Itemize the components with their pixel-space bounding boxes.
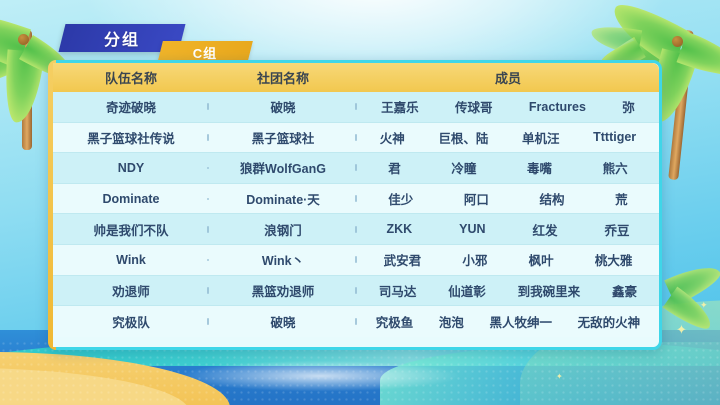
- member-name: 熊六: [603, 158, 628, 177]
- member-name: 司马达: [379, 281, 417, 300]
- table-row[interactable]: 奇迹破晓破晓王嘉乐传球哥Fractures弥: [53, 92, 659, 123]
- member-name: Fractures: [529, 100, 586, 114]
- member-name: 单机汪: [522, 128, 560, 147]
- member-name: 红发: [532, 220, 557, 239]
- cell-members: 武安君小邪枫叶桃大雅: [357, 250, 659, 269]
- member-name: 枫叶: [529, 250, 554, 269]
- cell-members: 王嘉乐传球哥Fractures弥: [357, 97, 659, 116]
- cell-members: 佳少阿口结构荒: [357, 189, 659, 208]
- cell-team-name: Wink: [53, 253, 209, 267]
- member-name: 君: [388, 158, 401, 177]
- column-header-team: 队伍名称: [53, 68, 209, 87]
- table-row[interactable]: 帅是我们不队浪钢门ZKKYUN红发乔豆: [53, 214, 659, 245]
- cell-members: 火神巨根、陆单机汪Ttttiger: [357, 128, 659, 147]
- cell-team-name: Dominate: [53, 192, 209, 206]
- cell-club-name: 黑篮劝退师: [209, 281, 357, 300]
- table-body: 奇迹破晓破晓王嘉乐传球哥Fractures弥黑子篮球社传说黑子篮球社火神巨根、陆…: [53, 92, 659, 337]
- cell-club-name: 破晓: [209, 97, 357, 116]
- member-name: 小邪: [462, 250, 487, 269]
- member-name: 阿口: [464, 189, 489, 208]
- cell-team-name: NDY: [53, 161, 209, 175]
- cell-club-name: 破晓: [209, 312, 357, 331]
- member-name: 到我碗里来: [518, 281, 581, 300]
- cell-team-name: 黑子篮球社传说: [53, 128, 209, 147]
- table-row[interactable]: DominateDominate·天佳少阿口结构荒: [53, 184, 659, 215]
- cell-members: 君冷瞳毒嘴熊六: [357, 158, 659, 177]
- table-row[interactable]: 究极队破晓究极鱼泡泡黑人牧绅一无敌的火神: [53, 306, 659, 337]
- member-name: Ttttiger: [593, 130, 636, 144]
- member-name: 武安君: [384, 250, 422, 269]
- member-name: 巨根、陆: [438, 128, 488, 147]
- cell-club-name: 黑子篮球社: [209, 128, 357, 147]
- member-name: 桃大雅: [595, 250, 633, 269]
- member-name: 究极鱼: [376, 312, 414, 331]
- member-name: 仙道彰: [448, 281, 486, 300]
- cell-members: 司马达仙道彰到我碗里来鑫豪: [357, 281, 659, 300]
- coconut: [18, 34, 29, 45]
- member-name: 火神: [380, 128, 405, 147]
- member-name: 冷瞳: [451, 158, 476, 177]
- cell-team-name: 帅是我们不队: [53, 220, 209, 239]
- cell-team-name: 究极队: [53, 312, 209, 331]
- member-name: YUN: [459, 222, 485, 236]
- member-name: 毒嘴: [527, 158, 552, 177]
- table-row[interactable]: WinkWink丶武安君小邪枫叶桃大雅: [53, 245, 659, 276]
- cell-members: ZKKYUN红发乔豆: [357, 220, 659, 239]
- cell-members: 究极鱼泡泡黑人牧绅一无敌的火神: [357, 312, 659, 331]
- member-name: 弥: [622, 97, 635, 116]
- cell-team-name: 劝退师: [53, 281, 209, 300]
- member-name: 鑫豪: [612, 281, 637, 300]
- cell-club-name: 狼群WolfGanG: [209, 158, 357, 177]
- column-header-member: 成员: [357, 68, 659, 87]
- sparkle-icon: ✦: [700, 300, 708, 311]
- table-row[interactable]: NDY狼群WolfGanG君冷瞳毒嘴熊六: [53, 153, 659, 184]
- cell-club-name: 浪钢门: [209, 220, 357, 239]
- member-name: 佳少: [388, 189, 413, 208]
- cell-club-name: Dominate·天: [209, 189, 357, 208]
- member-name: 荒: [615, 189, 628, 208]
- member-name: 乔豆: [604, 220, 629, 239]
- table-header-row: 队伍名称 社团名称 成员: [53, 63, 659, 92]
- standings-table: 队伍名称 社团名称 成员 奇迹破晓破晓王嘉乐传球哥Fractures弥黑子篮球社…: [53, 63, 659, 347]
- footer-bar: 黑子的篮球 街头对决 STREET RIVALS 天命杯 TIANMING CU…: [0, 345, 720, 405]
- member-name: ZKK: [386, 222, 412, 236]
- member-name: 结构: [540, 189, 565, 208]
- member-name: 黑人牧绅一: [490, 312, 553, 331]
- coconut: [672, 36, 683, 47]
- table-row[interactable]: 黑子篮球社传说黑子篮球社火神巨根、陆单机汪Ttttiger: [53, 123, 659, 154]
- member-name: 传球哥: [455, 97, 493, 116]
- sparkle-icon: ✦: [676, 322, 687, 338]
- column-header-club: 社团名称: [209, 68, 357, 87]
- table-row[interactable]: 劝退师黑篮劝退师司马达仙道彰到我碗里来鑫豪: [53, 276, 659, 307]
- member-name: 泡泡: [439, 312, 464, 331]
- cell-club-name: Wink丶: [209, 250, 357, 269]
- member-name: 王嘉乐: [381, 97, 419, 116]
- cell-team-name: 奇迹破晓: [53, 97, 209, 116]
- member-name: 无敌的火神: [578, 312, 641, 331]
